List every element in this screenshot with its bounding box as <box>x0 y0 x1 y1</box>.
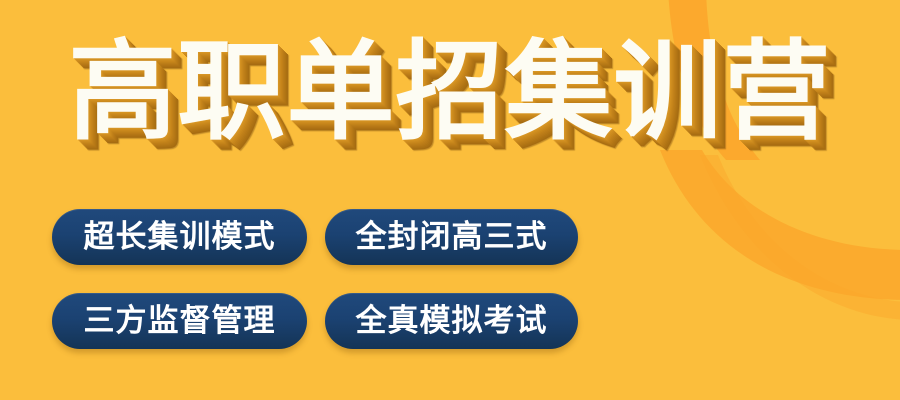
feature-pill-label: 三方监督管理 <box>84 306 276 337</box>
feature-pill-label: 全封闭高三式 <box>356 222 548 253</box>
feature-pill-quanfengbi-gaosan[interactable]: 全封闭高三式 <box>325 209 578 265</box>
feature-pill-sanfang-jiandu[interactable]: 三方监督管理 <box>52 293 307 349</box>
feature-pill-row-1: 超长集训模式 全封闭高三式 <box>52 209 578 265</box>
banner-title: 高职单招集训营 <box>68 39 831 147</box>
promo-banner: 高职单招集训营 超长集训模式 全封闭高三式 三方监督管理 全真模拟考试 <box>0 0 900 400</box>
feature-pill-label: 全真模拟考试 <box>356 306 548 337</box>
feature-pill-label: 超长集训模式 <box>84 222 276 253</box>
orange-arc-shape <box>660 150 900 300</box>
feature-pill-quanzhen-moni[interactable]: 全真模拟考试 <box>325 293 578 349</box>
feature-pill-chaochang-jixun[interactable]: 超长集训模式 <box>52 209 307 265</box>
orange-arc-tail-shape <box>700 155 900 320</box>
feature-pill-row-2: 三方监督管理 全真模拟考试 <box>52 293 578 349</box>
banner-title-container: 高职单招集训营 <box>0 28 900 158</box>
